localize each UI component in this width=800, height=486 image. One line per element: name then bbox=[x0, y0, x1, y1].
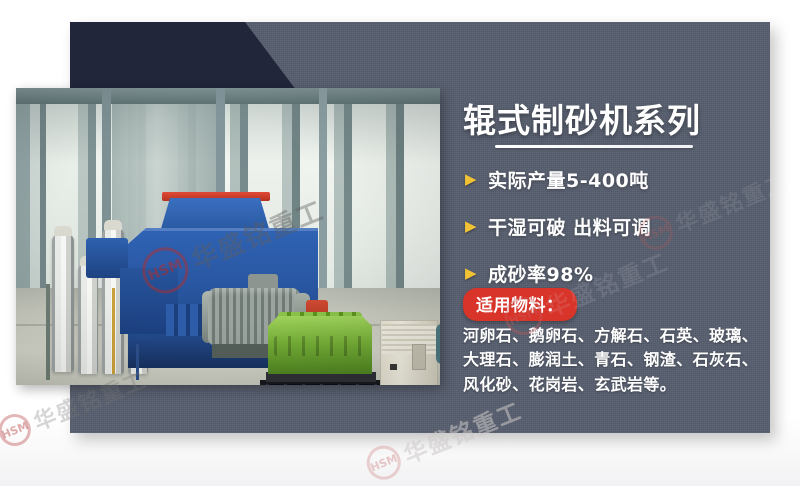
hsm-seal-icon: HSM bbox=[362, 441, 406, 485]
feature-item: ▶ 实际产量5-400吨 bbox=[465, 166, 775, 193]
applicable-materials-badge: 适用物料： bbox=[463, 288, 577, 321]
materials-list-text: 河卵石、鹅卵石、方解石、石英、玻璃、大理石、膨润土、青石、钢渣、石灰石、风化砂、… bbox=[463, 324, 765, 397]
content-column: 辊式制砂机系列 ▶ 实际产量5-400吨 ▶ 干湿可破 出料可调 ▶ 成砂率98… bbox=[455, 88, 775, 408]
arrow-right-icon: ▶ bbox=[465, 266, 481, 281]
feature-list: ▶ 实际产量5-400吨 ▶ 干湿可破 出料可调 ▶ 成砂率98% bbox=[465, 166, 775, 307]
hsm-seal-icon: HSM bbox=[0, 409, 36, 451]
feature-label: 实际产量5-400吨 bbox=[488, 166, 649, 193]
arrow-right-icon: ▶ bbox=[465, 219, 481, 234]
product-title: 辊式制砂机系列 bbox=[463, 94, 701, 142]
arrow-right-icon: ▶ bbox=[465, 172, 481, 187]
title-divider bbox=[495, 145, 693, 148]
feature-label: 成砂率98% bbox=[488, 260, 593, 287]
product-photo: HSM 华盛铭重工 HSM 华盛铭重工 bbox=[16, 88, 440, 385]
feature-item: ▶ 成砂率98% bbox=[465, 260, 775, 287]
feature-item: ▶ 干湿可破 出料可调 bbox=[465, 213, 775, 240]
promotional-banner: HSM 华盛铭重工 HSM 华盛铭重工 辊式制砂机系列 ▶ 实际产量5-400吨… bbox=[0, 0, 800, 486]
photo-vignette bbox=[16, 88, 440, 385]
feature-label: 干湿可破 出料可调 bbox=[488, 213, 651, 240]
